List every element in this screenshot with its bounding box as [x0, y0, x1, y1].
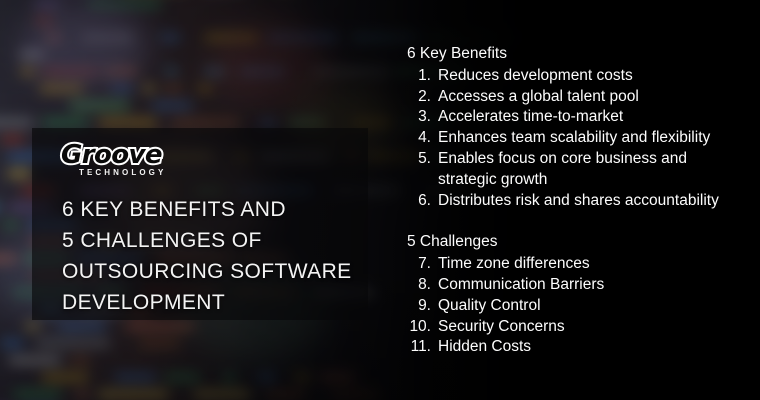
list-item-number: 6.	[404, 191, 438, 212]
list-item-text: Communication Barriers	[438, 275, 754, 296]
list-item-number: 9.	[404, 296, 438, 317]
list-item-text: Hidden Costs	[438, 337, 754, 358]
content-list: 6 Key Benefits 1.Reduces development cos…	[404, 44, 754, 358]
page-title-line-1: 6 KEY BENEFITS AND	[62, 194, 350, 225]
list-item-text: Enables focus on core business andstrate…	[438, 149, 754, 191]
list-item-number: 3.	[404, 107, 438, 128]
list-item-number: 10.	[404, 317, 438, 338]
list-item: 7.Time zone differences	[404, 254, 754, 275]
list-item: 6.Distributes risk and shares accountabi…	[404, 191, 754, 212]
page-title-line-4: DEVELOPMENT	[62, 287, 350, 318]
list-item: 5.Enables focus on core business andstra…	[404, 149, 754, 191]
list-item-number: 7.	[404, 254, 438, 275]
list-item-number: 8.	[404, 275, 438, 296]
list-item-text-continued: strategic growth	[438, 170, 754, 191]
list-item-number: 4.	[404, 128, 438, 149]
benefits-heading: 6 Key Benefits	[407, 44, 754, 65]
page-title-line-2: 5 CHALLENGES OF	[62, 225, 350, 256]
brand-logo-subtitle: TECHNOLOGY	[79, 168, 166, 177]
list-spacer	[404, 211, 754, 232]
list-item-number: 11.	[404, 337, 438, 358]
list-item: 10.Security Concerns	[404, 317, 754, 338]
benefits-list: 1.Reduces development costs2.Accesses a …	[404, 66, 754, 212]
slide-canvas: Groove TECHNOLOGY 6 KEY BENEFITS AND 5 C…	[0, 0, 760, 400]
title-panel: Groove TECHNOLOGY 6 KEY BENEFITS AND 5 C…	[32, 128, 368, 320]
list-item-number: 1.	[404, 66, 438, 87]
list-item: 11.Hidden Costs	[404, 337, 754, 358]
list-item-text: Time zone differences	[438, 254, 754, 275]
list-item-text: Accesses a global talent pool	[438, 87, 754, 108]
list-item-number: 2.	[404, 87, 438, 108]
page-title: 6 KEY BENEFITS AND 5 CHALLENGES OF OUTSO…	[62, 194, 350, 318]
list-item: 4.Enhances team scalability and flexibil…	[404, 128, 754, 149]
page-title-line-3: OUTSOURCING SOFTWARE	[62, 256, 350, 287]
list-item-text: Reduces development costs	[438, 66, 754, 87]
list-item: 2.Accesses a global talent pool	[404, 87, 754, 108]
list-item: 9.Quality Control	[404, 296, 754, 317]
groove-wordmark-icon: Groove	[61, 140, 162, 170]
list-item: 3.Accelerates time-to-market	[404, 107, 754, 128]
list-item-text: Distributes risk and shares accountabili…	[438, 191, 754, 212]
list-item-text: Enhances team scalability and flexibilit…	[438, 128, 754, 149]
list-item: 1.Reduces development costs	[404, 66, 754, 87]
challenges-list: 7.Time zone differences8.Communication B…	[404, 254, 754, 358]
list-item-text: Accelerates time-to-market	[438, 107, 754, 128]
list-item: 8.Communication Barriers	[404, 275, 754, 296]
brand-logo: Groove TECHNOLOGY	[61, 140, 350, 186]
list-item-text: Security Concerns	[438, 317, 754, 338]
challenges-heading: 5 Challenges	[407, 232, 754, 253]
list-item-text: Quality Control	[438, 296, 754, 317]
list-item-number: 5.	[404, 149, 438, 170]
